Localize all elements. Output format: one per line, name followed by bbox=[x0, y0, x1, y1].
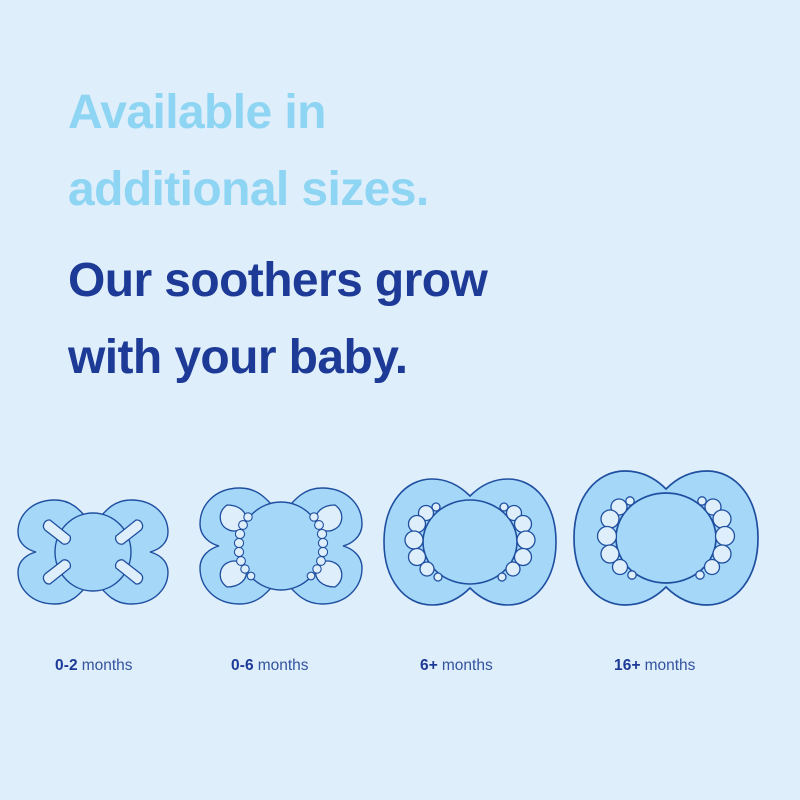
size-label-unit: months bbox=[442, 657, 493, 674]
soother-shield-icon-1 bbox=[14, 496, 172, 608]
soother-item-0-2[interactable] bbox=[13, 496, 173, 608]
size-label-0-2: 0-2months bbox=[55, 655, 133, 677]
soother-shield-icon-3 bbox=[381, 476, 559, 608]
heading-block: Available in additional sizes. Our sooth… bbox=[68, 74, 688, 396]
soother-shield-icon-4 bbox=[571, 468, 761, 608]
size-label-unit: months bbox=[258, 657, 309, 674]
soother-item-0-6[interactable] bbox=[195, 484, 367, 608]
headline-primary: Our soothers grow with your baby. bbox=[68, 228, 688, 396]
size-label-row: 0-2months 0-6months 6+months 16+months bbox=[0, 655, 800, 685]
size-label-16plus: 16+months bbox=[614, 655, 695, 677]
soother-size-gallery bbox=[0, 448, 800, 608]
soother-item-16plus[interactable] bbox=[570, 468, 762, 608]
size-label-age: 0-6 bbox=[231, 657, 254, 674]
size-label-6plus: 6+months bbox=[420, 655, 493, 677]
soother-shield-icon-2 bbox=[196, 484, 366, 608]
size-label-unit: months bbox=[82, 657, 133, 674]
size-label-age: 6+ bbox=[420, 657, 438, 674]
size-label-age: 16+ bbox=[614, 657, 641, 674]
size-label-age: 0-2 bbox=[55, 657, 78, 674]
soother-item-6plus[interactable] bbox=[380, 476, 560, 608]
size-label-unit: months bbox=[645, 657, 696, 674]
size-label-0-6: 0-6months bbox=[231, 655, 309, 677]
page-root: Available in additional sizes. Our sooth… bbox=[0, 0, 800, 800]
headline-secondary: Available in additional sizes. bbox=[68, 74, 688, 228]
